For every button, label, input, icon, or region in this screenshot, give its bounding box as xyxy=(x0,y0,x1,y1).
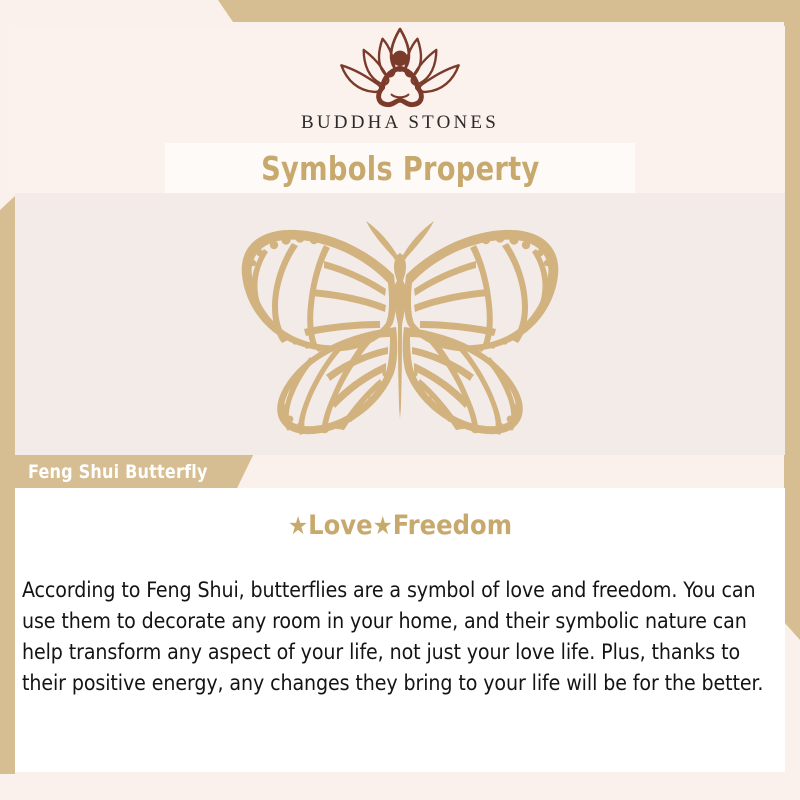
page-title: Symbols Property xyxy=(261,149,539,188)
promo-graphic-page: BUDDHA STONES Symbols Property xyxy=(0,0,800,800)
butterfly-icon xyxy=(220,205,580,443)
subtitle-word-freedom: Freedom xyxy=(393,510,512,541)
brand-name: BUDDHA STONES xyxy=(0,112,800,134)
title-banner: Symbols Property xyxy=(165,143,635,193)
footer-strip xyxy=(0,774,800,800)
star-icon-mid: ★ xyxy=(373,511,393,540)
subtitle-heading: ★Love★Freedom xyxy=(15,510,785,541)
description-paragraph: According to Feng Shui, butterflies are … xyxy=(22,575,771,699)
brand-lockup: BUDDHA STONES xyxy=(0,22,800,134)
frame-band-top xyxy=(0,0,800,22)
star-icon-left: ★ xyxy=(288,511,308,540)
lotus-meditation-figure-icon xyxy=(316,22,484,110)
ribbon-caption: Feng Shui Butterfly xyxy=(0,455,253,488)
subtitle-word-love: Love xyxy=(308,510,372,541)
butterfly-illustration xyxy=(0,196,800,451)
ribbon-label: Feng Shui Butterfly xyxy=(28,461,208,483)
